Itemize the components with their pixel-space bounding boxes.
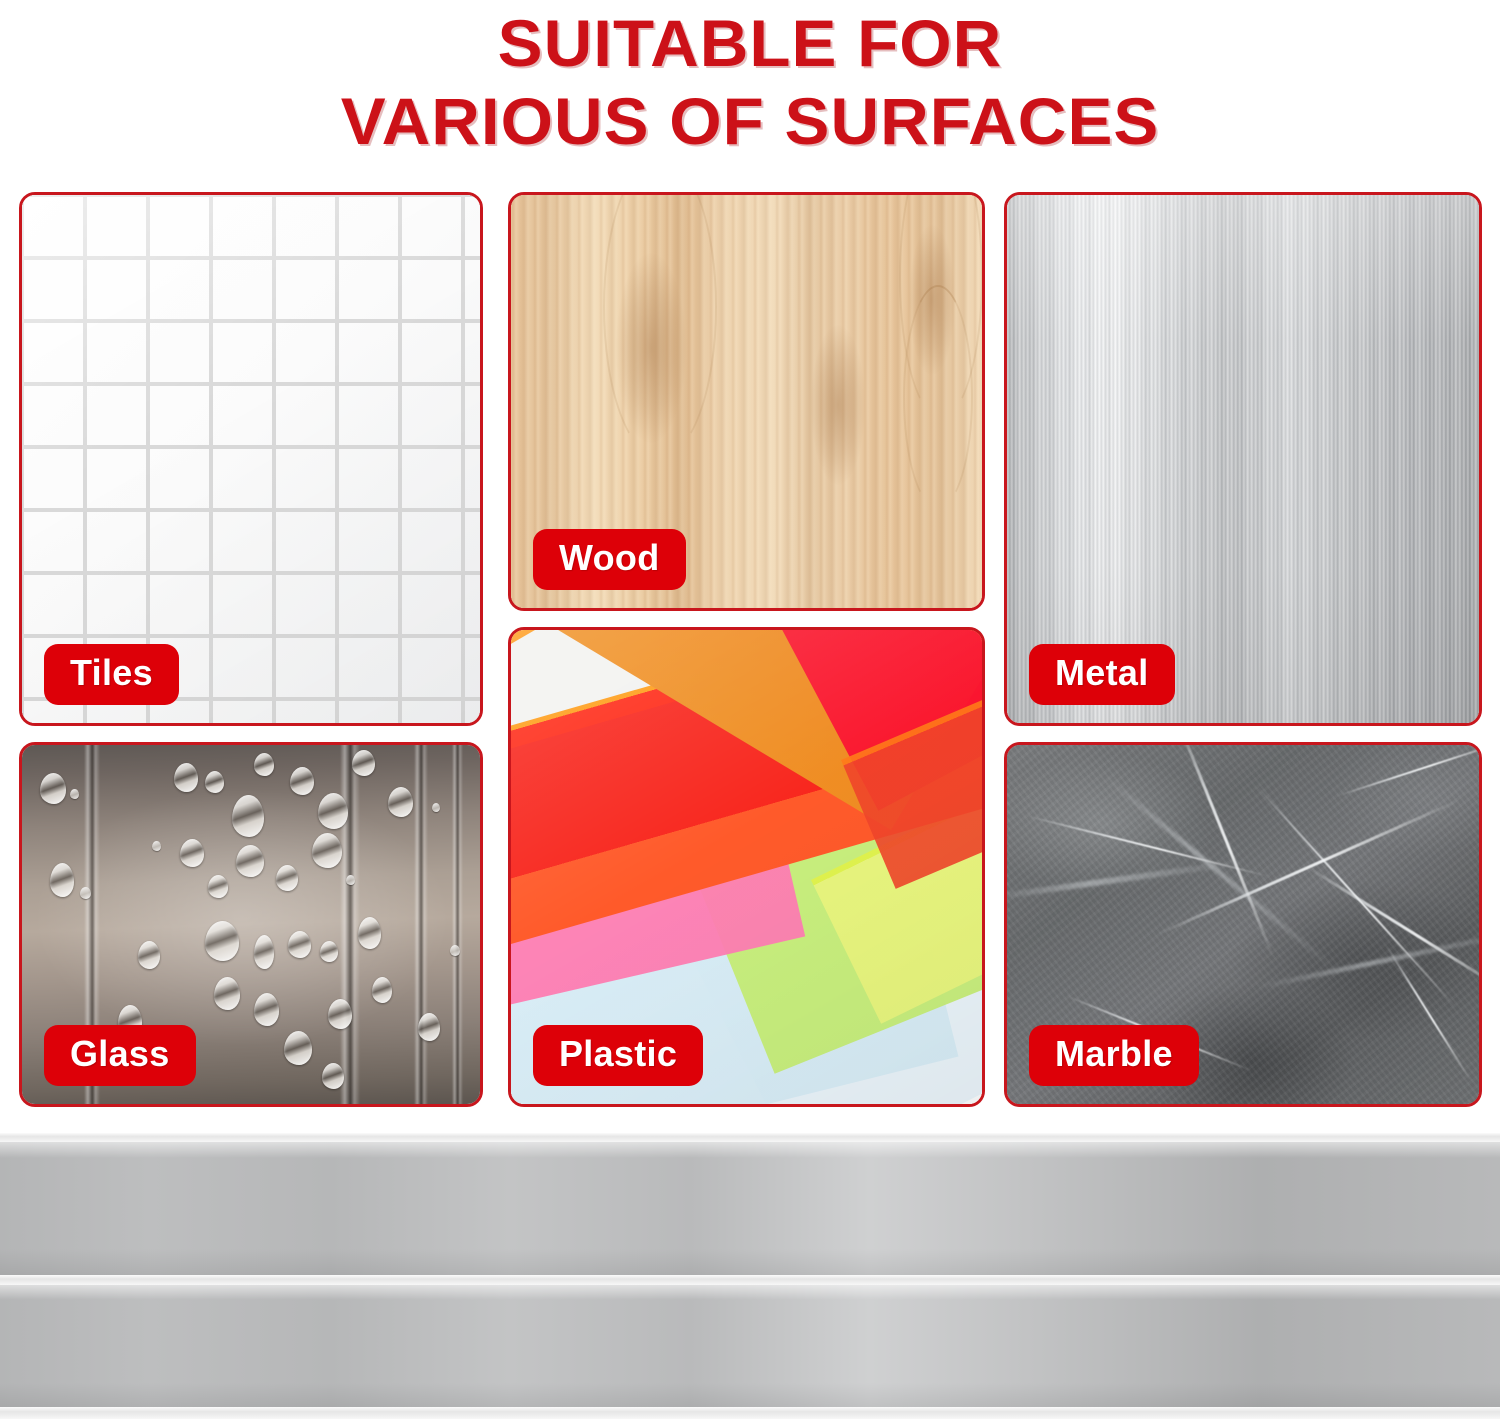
surface-panel-glass: Glass	[19, 742, 483, 1107]
wood-knot-2	[811, 325, 865, 485]
water-droplet	[208, 875, 228, 898]
water-droplet	[80, 887, 91, 899]
water-droplet	[138, 941, 160, 969]
water-droplet	[322, 1063, 344, 1089]
water-droplet	[432, 803, 440, 812]
surface-label-glass: Glass	[44, 1025, 196, 1086]
water-droplet	[320, 941, 338, 962]
surface-panel-tiles: Tiles	[19, 192, 483, 726]
water-droplet	[236, 845, 264, 877]
surface-label-marble: Marble	[1029, 1025, 1199, 1086]
wood-grain-arc-3	[903, 285, 973, 509]
water-droplet	[254, 935, 274, 969]
water-droplet	[388, 787, 413, 817]
water-droplet	[254, 993, 279, 1026]
surface-panel-plastic: Plastic	[508, 627, 985, 1107]
water-droplet	[418, 1013, 440, 1041]
water-droplet	[328, 999, 352, 1029]
water-droplet	[450, 945, 460, 956]
water-droplet	[214, 977, 240, 1010]
water-droplet	[358, 917, 381, 949]
water-droplet	[372, 977, 392, 1003]
shelf-face-lower	[0, 1285, 1500, 1407]
water-droplet	[152, 841, 161, 851]
surface-label-plastic: Plastic	[533, 1025, 703, 1086]
surface-label-tiles: Tiles	[44, 644, 179, 705]
water-droplet	[174, 763, 198, 792]
water-droplet	[284, 1031, 312, 1065]
water-droplet	[70, 789, 79, 799]
water-droplet	[254, 753, 274, 776]
water-droplet	[232, 795, 264, 837]
bottom-shelf-strip	[0, 1133, 1500, 1419]
water-droplet	[290, 767, 314, 795]
water-droplet	[288, 931, 311, 958]
shelf-edge-top	[0, 1133, 1500, 1142]
shelf-edge-bottom	[0, 1407, 1500, 1419]
shelf-edge-middle	[0, 1275, 1500, 1285]
water-droplet	[40, 773, 66, 804]
surface-label-metal: Metal	[1029, 644, 1175, 705]
water-droplet	[276, 865, 298, 891]
water-droplet	[346, 875, 355, 885]
water-droplet	[180, 839, 204, 867]
water-droplet	[205, 771, 224, 793]
shelf-face-upper	[0, 1142, 1500, 1275]
water-droplet	[318, 793, 348, 829]
water-droplet	[312, 833, 342, 868]
surface-label-wood: Wood	[533, 529, 686, 590]
water-droplet	[50, 863, 74, 897]
surface-panel-metal: Metal	[1004, 192, 1482, 726]
surface-panel-wood: Wood	[508, 192, 985, 611]
water-droplet	[352, 750, 375, 776]
water-droplet	[205, 921, 239, 961]
surface-panel-marble: Marble	[1004, 742, 1482, 1107]
